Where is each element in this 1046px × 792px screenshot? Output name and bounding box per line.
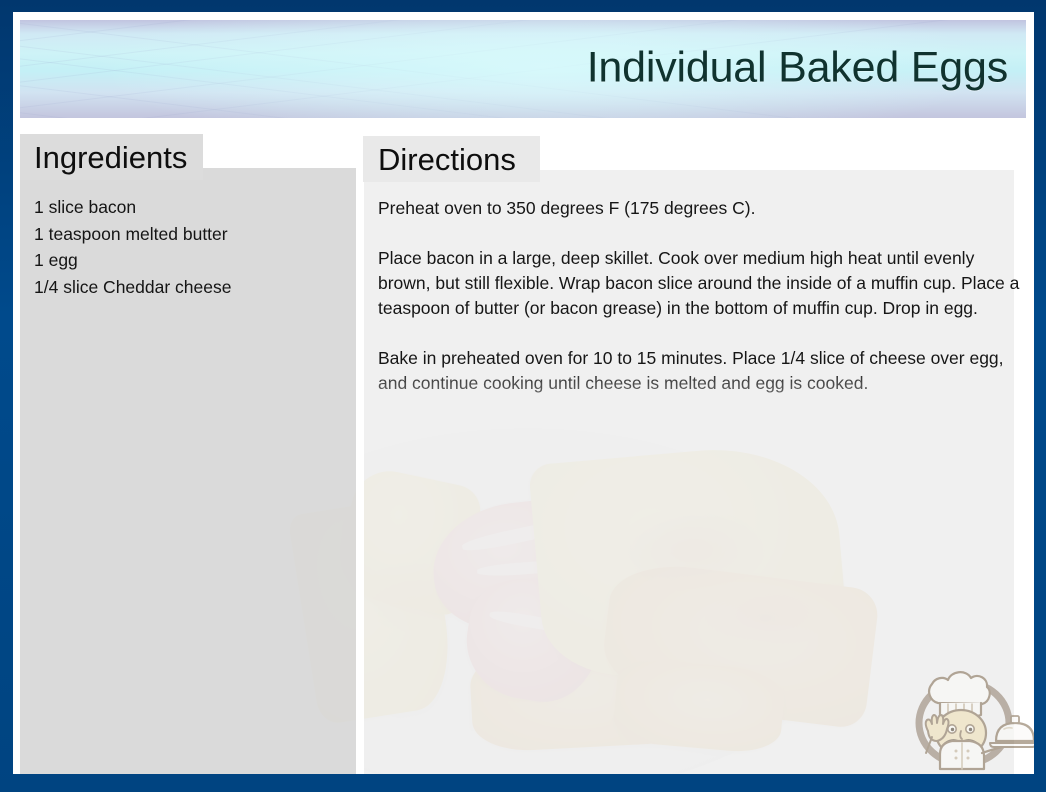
directions-heading: Directions	[363, 136, 540, 182]
chef-mascot-logo	[904, 657, 1034, 774]
directions-paragraph: Bake in preheated oven for 10 to 15 minu…	[378, 346, 1023, 396]
ingredients-list: 1 slice bacon 1 teaspoon melted butter 1…	[34, 194, 344, 300]
directions-text: Preheat oven to 350 degrees F (175 degre…	[378, 196, 1023, 396]
column-divider	[356, 168, 364, 774]
list-item: 1 slice bacon	[34, 194, 344, 221]
header-banner: Individual Baked Eggs	[20, 20, 1026, 118]
list-item: 1 teaspoon melted butter	[34, 221, 344, 248]
directions-paragraph: Preheat oven to 350 degrees F (175 degre…	[378, 196, 1023, 221]
list-item: 1/4 slice Cheddar cheese	[34, 274, 344, 301]
slide-page: Individual Baked Eggs	[13, 12, 1034, 774]
ingredients-heading: Ingredients	[20, 134, 203, 180]
page-title: Individual Baked Eggs	[587, 44, 1008, 93]
recipe-card-slide: Individual Baked Eggs	[0, 0, 1046, 792]
list-item: 1 egg	[34, 247, 344, 274]
directions-paragraph: Place bacon in a large, deep skillet. Co…	[378, 246, 1023, 321]
